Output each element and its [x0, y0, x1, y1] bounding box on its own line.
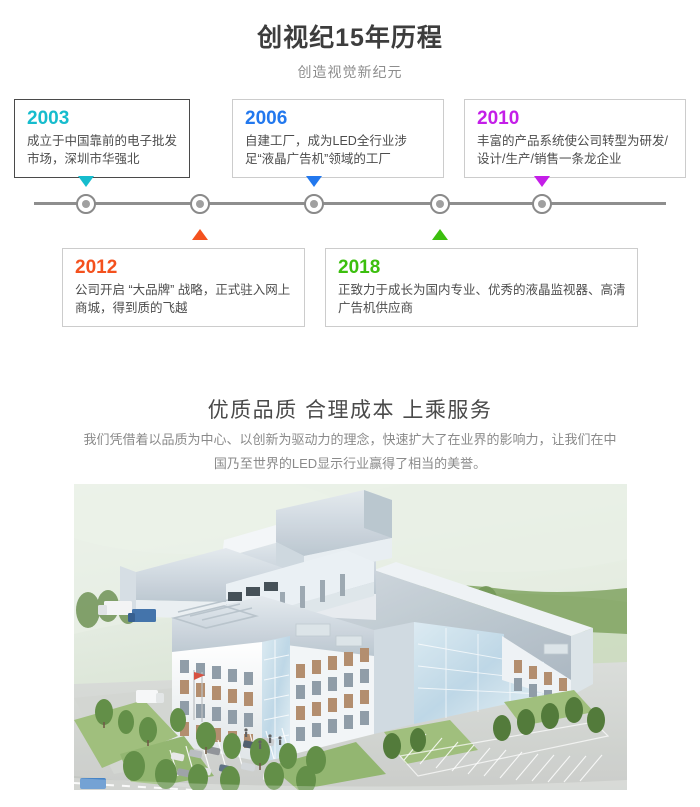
timeline-pointer-2012-icon — [192, 229, 208, 240]
timeline-card-2006-year: 2006 — [245, 108, 433, 129]
timeline-card-2018-year: 2018 — [338, 257, 627, 278]
timeline-card-2010: 2010 丰富的产品系统使公司转型为研发/设计/生产/销售一条龙企业 — [464, 99, 686, 178]
timeline-node-3 — [304, 194, 324, 214]
company-history-page: 创视纪15年历程 创造视觉新纪元 2003 成立于中国靠前的电子批发市场，深圳市… — [0, 0, 700, 807]
timeline-card-2003-year: 2003 — [27, 108, 179, 129]
quality-section-paragraph: 我们凭借着以品质为中心、以创新为驱动力的理念，快速扩大了在业界的影响力，让我们在… — [78, 428, 622, 476]
timeline-pointer-2010-icon — [534, 176, 550, 187]
timeline-card-2018-desc: 正致力于成长为国内专业、优秀的液晶监视器、高清广告机供应商 — [338, 281, 627, 317]
factory-aerial-illustration — [74, 484, 627, 790]
timeline-card-2006-desc: 自建工厂，成为LED全行业涉足“液晶广告机”领域的工厂 — [245, 132, 433, 168]
timeline-node-2 — [190, 194, 210, 214]
quality-section-title: 优质品质 合理成本 上乘服务 — [0, 394, 700, 424]
timeline-node-1 — [76, 194, 96, 214]
timeline-pointer-2018-icon — [432, 229, 448, 240]
timeline-card-2003-desc: 成立于中国靠前的电子批发市场，深圳市华强北 — [27, 132, 179, 168]
timeline-node-4 — [430, 194, 450, 214]
timeline-card-2012-desc: 公司开启 “大品牌” 战略，正式驻入网上商城，得到质的飞越 — [75, 281, 294, 317]
timeline-card-2018: 2018 正致力于成长为国内专业、优秀的液晶监视器、高清广告机供应商 — [325, 248, 638, 327]
timeline-pointer-2003-icon — [78, 176, 94, 187]
page-subtitle: 创造视觉新纪元 — [0, 62, 700, 82]
factory-aerial-image — [74, 484, 627, 790]
timeline-axis — [34, 202, 666, 205]
timeline-card-2012: 2012 公司开启 “大品牌” 战略，正式驻入网上商城，得到质的飞越 — [62, 248, 305, 327]
timeline-card-2010-desc: 丰富的产品系统使公司转型为研发/设计/生产/销售一条龙企业 — [477, 132, 675, 168]
timeline-card-2006: 2006 自建工厂，成为LED全行业涉足“液晶广告机”领域的工厂 — [232, 99, 444, 178]
page-title: 创视纪15年历程 — [0, 18, 700, 54]
timeline-pointer-2006-icon — [306, 176, 322, 187]
timeline-node-5 — [532, 194, 552, 214]
timeline-card-2012-year: 2012 — [75, 257, 294, 278]
timeline-card-2010-year: 2010 — [477, 108, 675, 129]
timeline-card-2003: 2003 成立于中国靠前的电子批发市场，深圳市华强北 — [14, 99, 190, 178]
